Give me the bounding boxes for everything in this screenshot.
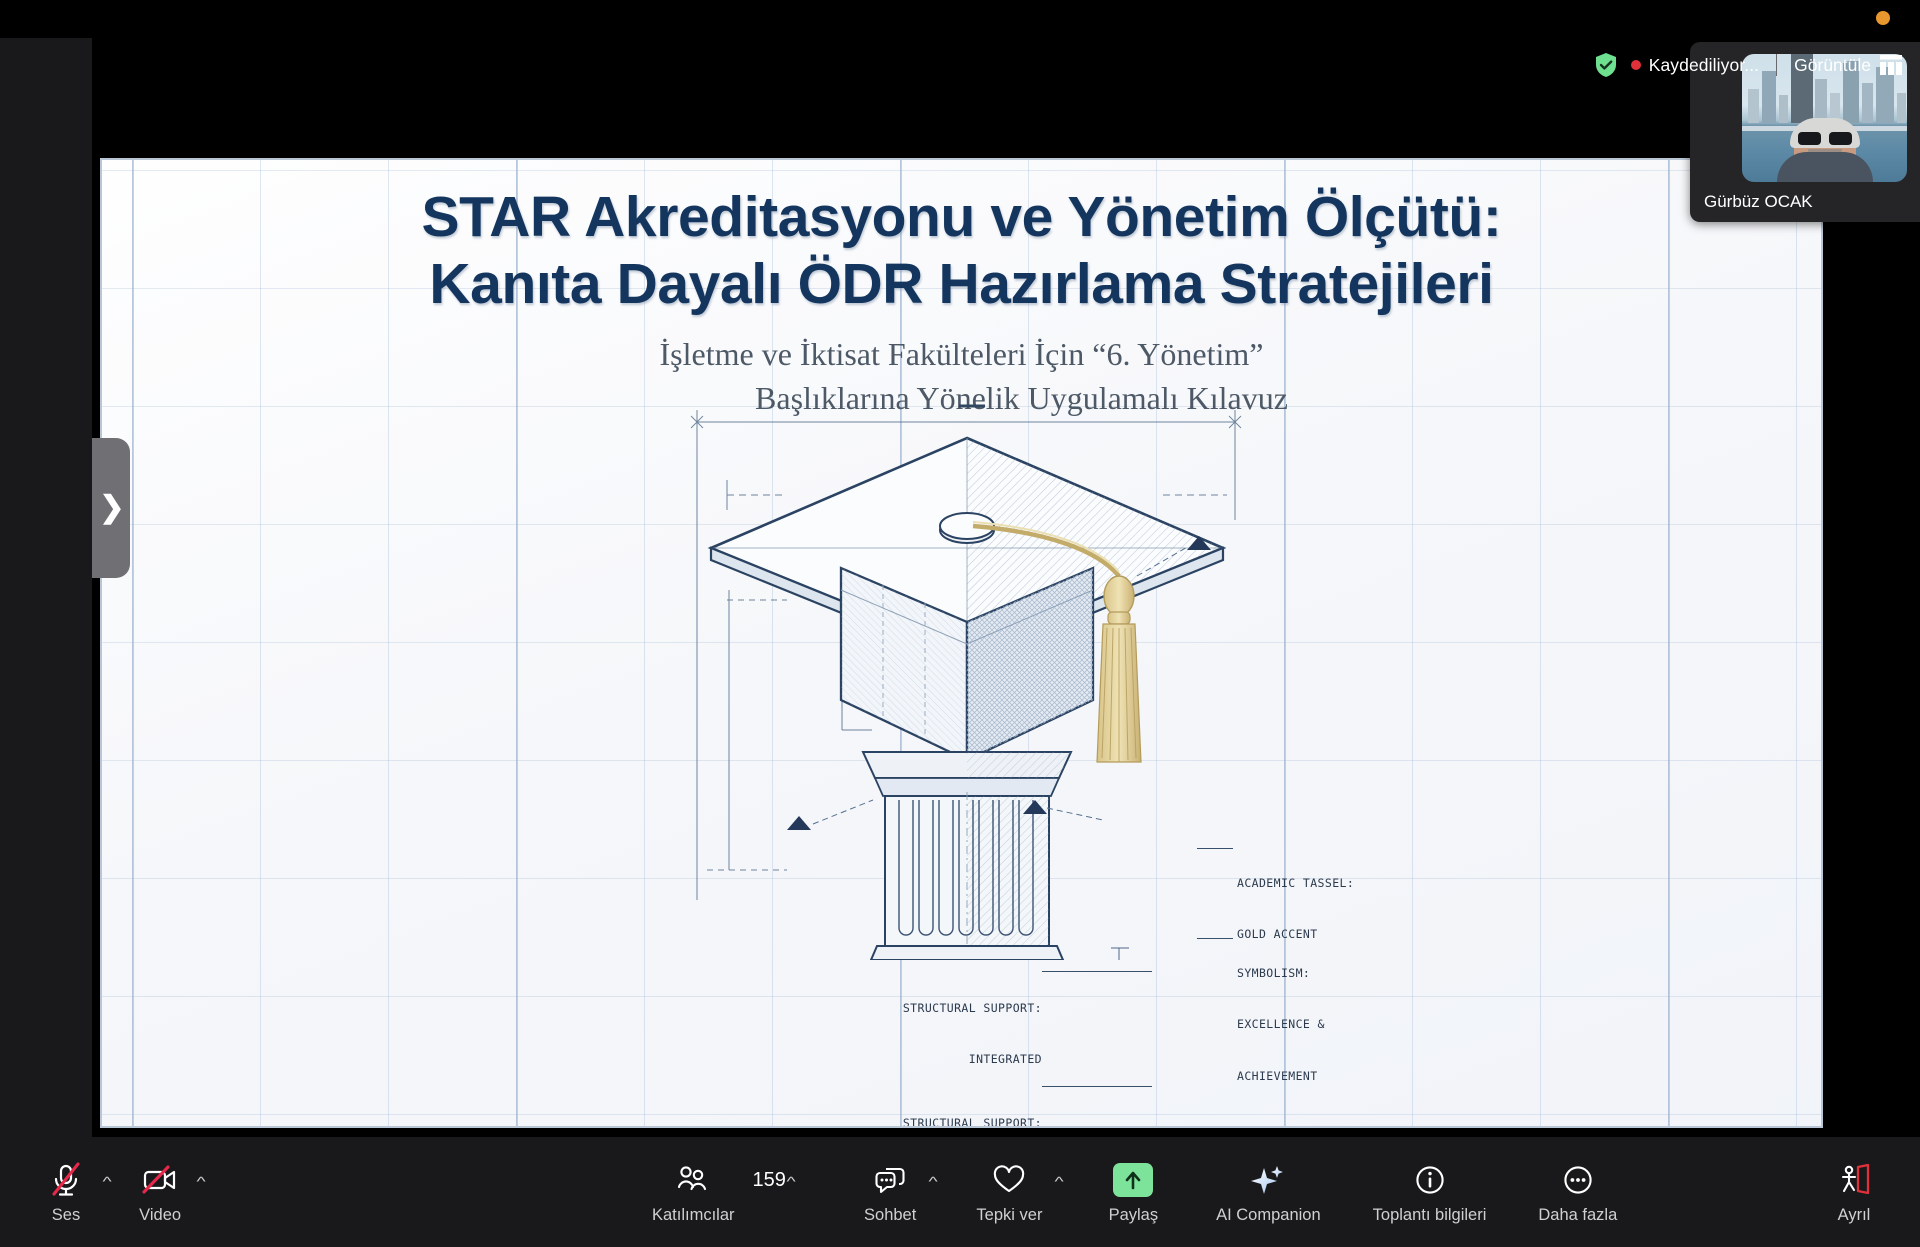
window-status-dot bbox=[1876, 11, 1890, 25]
video-options-caret[interactable]: ^ bbox=[197, 1174, 206, 1189]
microphone-muted-icon bbox=[48, 1160, 84, 1200]
toolbar-right-group: Ayrıl bbox=[1818, 1160, 1890, 1225]
meeting-toolbar: Ses ^ Video bbox=[0, 1137, 1920, 1247]
meeting-status-bar: Kaydediliyor... Görüntüle bbox=[1594, 47, 1920, 83]
sunglasses-icon bbox=[1798, 132, 1852, 145]
reactions-group: Tepki ver ^ bbox=[964, 1160, 1062, 1225]
slide-subtitle-line1: İşletme ve İktisat Fakülteleri İçin “6. … bbox=[102, 332, 1821, 376]
camera-muted-icon bbox=[140, 1160, 180, 1200]
audio-group: Ses ^ bbox=[30, 1160, 110, 1225]
chevron-right-icon: ❯ bbox=[99, 493, 124, 523]
slide-title: STAR Akreditasyonu ve Yönetim Ölçütü: Ka… bbox=[102, 184, 1821, 317]
chat-button[interactable]: Sohbet bbox=[852, 1160, 928, 1225]
share-button[interactable]: Paylaş bbox=[1097, 1160, 1171, 1225]
participants-button[interactable]: Katılımcılar bbox=[640, 1160, 747, 1225]
participants-group: Katılımcılar 159 ^ bbox=[640, 1160, 794, 1225]
leave-button[interactable]: Ayrıl bbox=[1818, 1160, 1890, 1225]
status-divider bbox=[1776, 54, 1777, 76]
video-label: Video bbox=[139, 1206, 181, 1225]
annotation-symbolism: SYMBOLISM: EXCELLENCE & ACHIEVEMENT bbox=[1237, 930, 1325, 1120]
avatar-shirt bbox=[1777, 152, 1873, 182]
annotation-support-lower: STRUCTURAL SUPPORT: INTEGRATED bbox=[852, 1080, 1042, 1128]
slide-title-line1: STAR Akreditasyonu ve Yönetim Ölçütü: bbox=[102, 184, 1821, 251]
more-button[interactable]: Daha fazla bbox=[1526, 1160, 1629, 1225]
chat-bubble-icon bbox=[873, 1160, 907, 1200]
zoom-meeting-window: Kaydediliyor... Görüntüle bbox=[0, 0, 1920, 1247]
annotation-support-lower-line1: STRUCTURAL SUPPORT: bbox=[852, 1115, 1042, 1129]
audio-label: Ses bbox=[52, 1206, 80, 1225]
meeting-info-button[interactable]: Toplantı bilgileri bbox=[1361, 1160, 1499, 1225]
more-label: Daha fazla bbox=[1538, 1206, 1617, 1225]
sparkle-icon bbox=[1251, 1160, 1285, 1200]
people-icon bbox=[675, 1160, 711, 1200]
grid-layout-icon[interactable] bbox=[1880, 55, 1902, 75]
share-up-arrow-icon bbox=[1113, 1163, 1153, 1197]
share-label: Paylaş bbox=[1109, 1206, 1159, 1225]
leave-door-icon bbox=[1836, 1160, 1872, 1200]
shield-check-icon bbox=[1594, 52, 1618, 78]
toolbar-center-group: Katılımcılar 159 ^ bbox=[640, 1160, 1629, 1225]
audio-options-caret[interactable]: ^ bbox=[102, 1174, 111, 1189]
reactions-options-caret[interactable]: ^ bbox=[1055, 1174, 1064, 1189]
leader-line-tassel bbox=[1197, 848, 1233, 849]
audio-button[interactable]: Ses bbox=[30, 1160, 102, 1225]
ai-companion-button[interactable]: AI Companion bbox=[1204, 1160, 1333, 1225]
meeting-info-label: Toplantı bilgileri bbox=[1373, 1206, 1487, 1225]
view-button-label[interactable]: Görüntüle bbox=[1794, 55, 1871, 76]
presentation-slide: STAR Akreditasyonu ve Yönetim Ölçütü: Ka… bbox=[100, 158, 1823, 1128]
ai-companion-label: AI Companion bbox=[1216, 1206, 1321, 1225]
annotation-symbolism-line2: EXCELLENCE & bbox=[1237, 1016, 1325, 1033]
leader-line-support-lower bbox=[1042, 1086, 1152, 1087]
participant-name-label: Gürbüz OCAK bbox=[1704, 192, 1813, 212]
participants-label: Katılımcılar bbox=[652, 1206, 735, 1225]
leave-label: Ayrıl bbox=[1838, 1206, 1871, 1225]
chat-group: Sohbet ^ bbox=[852, 1160, 936, 1225]
recording-status-label: Kaydediliyor... bbox=[1649, 55, 1759, 76]
leader-line-symbolism bbox=[1197, 938, 1233, 939]
reactions-label: Tepki ver bbox=[976, 1206, 1042, 1225]
slide-title-line2: Kanıta Dayalı ÖDR Hazırlama Stratejileri bbox=[102, 251, 1821, 318]
left-rail bbox=[0, 38, 92, 1247]
participants-count: 159 bbox=[753, 1169, 786, 1192]
video-group: Video ^ bbox=[124, 1160, 204, 1225]
annotation-tassel-line1: ACADEMIC TASSEL: bbox=[1237, 875, 1354, 892]
annotation-support-upper-line1: STRUCTURAL SUPPORT: bbox=[852, 1000, 1042, 1017]
leader-line-support-upper bbox=[1042, 971, 1152, 972]
window-title-bar bbox=[0, 0, 1920, 38]
annotation-symbolism-line3: ACHIEVEMENT bbox=[1237, 1068, 1325, 1085]
recording-indicator-dot bbox=[1631, 60, 1641, 70]
participants-options-caret[interactable]: ^ bbox=[786, 1174, 795, 1189]
annotation-support-upper-line2: INTEGRATED bbox=[852, 1051, 1042, 1068]
chat-options-caret[interactable]: ^ bbox=[929, 1174, 938, 1189]
annotation-symbolism-line1: SYMBOLISM: bbox=[1237, 965, 1325, 982]
heart-icon bbox=[992, 1160, 1026, 1200]
video-button[interactable]: Video bbox=[124, 1160, 196, 1225]
graduation-cap-blueprint-illustration bbox=[667, 400, 1267, 960]
expand-panel-button[interactable]: ❯ bbox=[92, 438, 130, 578]
toolbar-left-group: Ses ^ Video bbox=[30, 1160, 204, 1225]
ellipsis-circle-icon bbox=[1561, 1160, 1595, 1200]
reactions-button[interactable]: Tepki ver bbox=[964, 1160, 1054, 1225]
info-circle-icon bbox=[1413, 1160, 1447, 1200]
chat-label: Sohbet bbox=[864, 1206, 916, 1225]
